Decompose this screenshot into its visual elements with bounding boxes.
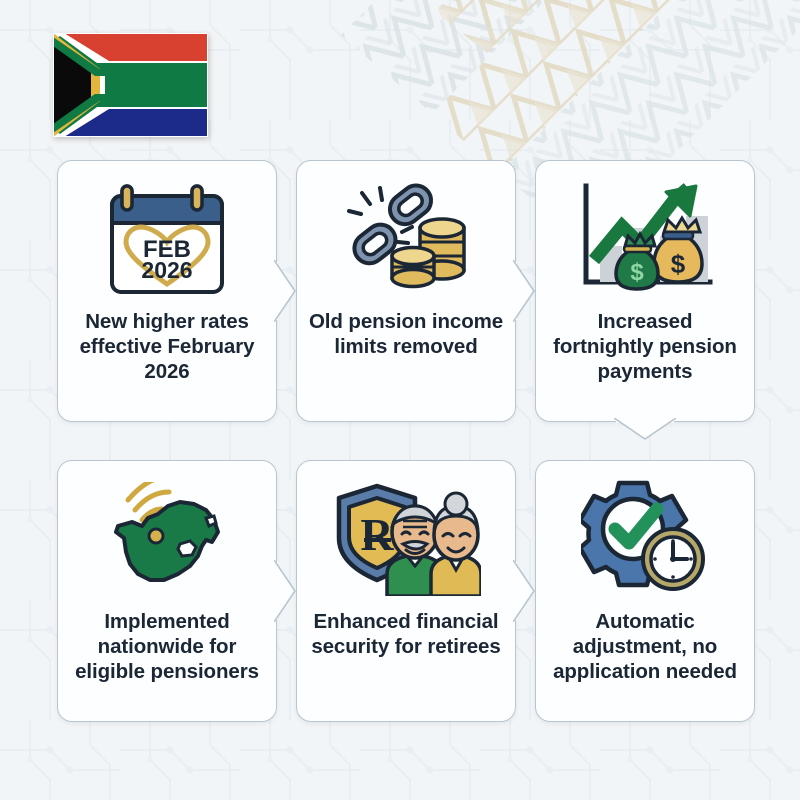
chevron-down-icon bbox=[614, 418, 676, 440]
card-nationwide[interactable]: Implemented nationwide for eligible pens… bbox=[57, 460, 277, 722]
gear-check-clock-icon bbox=[546, 477, 744, 599]
south-africa-map-signal-icon bbox=[68, 477, 266, 599]
card-label: Old pension income limits removed bbox=[307, 299, 505, 409]
broken-chain-coins-icon bbox=[307, 177, 505, 299]
card-label: Automatic adjustment, no application nee… bbox=[546, 599, 744, 709]
card-label: Enhanced financial security for retirees bbox=[307, 599, 505, 709]
card-effective-date[interactable]: FEB 2026 New higher rates effective Febr… bbox=[57, 160, 277, 422]
card-label: Implemented nationwide for eligible pens… bbox=[68, 599, 266, 709]
chevron-right-icon bbox=[513, 560, 535, 622]
rand-currency-symbol: R bbox=[360, 509, 394, 560]
card-automatic[interactable]: Automatic adjustment, no application nee… bbox=[535, 460, 755, 722]
card-label: New higher rates effective February 2026 bbox=[68, 299, 266, 409]
growth-chart-money-bags-icon: $ $ bbox=[546, 177, 744, 299]
card-increased-payments[interactable]: $ $ Increased fortnightly pension paymen… bbox=[535, 160, 755, 422]
card-financial-security[interactable]: R bbox=[296, 460, 516, 722]
card-income-limits[interactable]: Old pension income limits removed bbox=[296, 160, 516, 422]
card-label: Increased fortnightly pension payments bbox=[546, 299, 744, 409]
south-african-flag bbox=[53, 33, 208, 137]
calendar-heart-icon: FEB 2026 bbox=[68, 177, 266, 299]
chevron-right-icon bbox=[274, 560, 296, 622]
chevron-right-icon bbox=[274, 260, 296, 322]
infographic-card-grid: FEB 2026 New higher rates effective Febr… bbox=[57, 160, 754, 722]
calendar-year-label: 2026 bbox=[141, 257, 192, 283]
shield-rand-elderly-couple-icon: R bbox=[307, 477, 505, 599]
svg-text:$: $ bbox=[630, 259, 644, 286]
chevron-right-icon bbox=[513, 260, 535, 322]
money-bag-currency-symbol: $ bbox=[671, 249, 686, 279]
